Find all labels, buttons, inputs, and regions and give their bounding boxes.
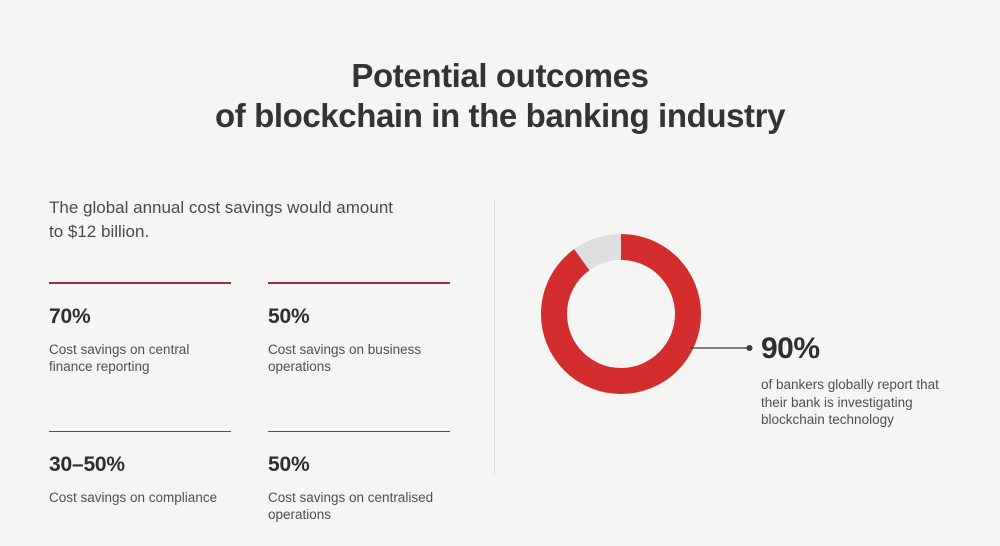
stat-cell-central-finance-reporting: 70% Cost savings on central finance repo… bbox=[49, 282, 231, 375]
callout-value: 90% bbox=[761, 332, 961, 366]
callout-description: of bankers globally report that their ba… bbox=[761, 376, 961, 429]
donut-segment-main bbox=[554, 247, 688, 381]
donut-chart-svg bbox=[541, 234, 701, 394]
stat-value: 70% bbox=[49, 305, 231, 329]
stat-rule bbox=[268, 431, 450, 433]
stat-cell-centralised-operations: 50% Cost savings on centralised operatio… bbox=[268, 431, 450, 524]
stat-cell-compliance: 30–50% Cost savings on compliance bbox=[49, 431, 231, 524]
stat-rule bbox=[268, 282, 450, 284]
donut-chart bbox=[541, 234, 701, 394]
stat-value: 30–50% bbox=[49, 453, 231, 477]
stat-label: Cost savings on central finance reportin… bbox=[49, 341, 231, 375]
column-divider bbox=[494, 200, 495, 475]
left-column: The global annual cost savings would amo… bbox=[49, 196, 450, 523]
stat-value: 50% bbox=[268, 305, 450, 329]
lede-text: The global annual cost savings would amo… bbox=[49, 196, 409, 244]
stat-rule bbox=[49, 431, 231, 433]
page-title-line-2: of blockchain in the banking industry bbox=[0, 96, 1000, 136]
stat-label: Cost savings on compliance bbox=[49, 489, 231, 506]
stat-cell-business-operations: 50% Cost savings on business operations bbox=[268, 282, 450, 375]
stat-label: Cost savings on centralised operations bbox=[268, 489, 450, 523]
leader-line bbox=[690, 334, 760, 364]
stat-row-bottom: 30–50% Cost savings on compliance 50% Co… bbox=[49, 431, 450, 524]
donut-callout: 90% of bankers globally report that thei… bbox=[761, 332, 961, 429]
stat-row-top: 70% Cost savings on central finance repo… bbox=[49, 282, 450, 375]
page-title-line-1: Potential outcomes bbox=[0, 56, 1000, 96]
page-title: Potential outcomes of blockchain in the … bbox=[0, 56, 1000, 136]
stat-value: 50% bbox=[268, 453, 450, 477]
stat-label: Cost savings on business operations bbox=[268, 341, 450, 375]
stat-grid: 70% Cost savings on central finance repo… bbox=[49, 282, 450, 523]
leader-line-dot bbox=[747, 345, 753, 351]
stat-rule bbox=[49, 282, 231, 284]
